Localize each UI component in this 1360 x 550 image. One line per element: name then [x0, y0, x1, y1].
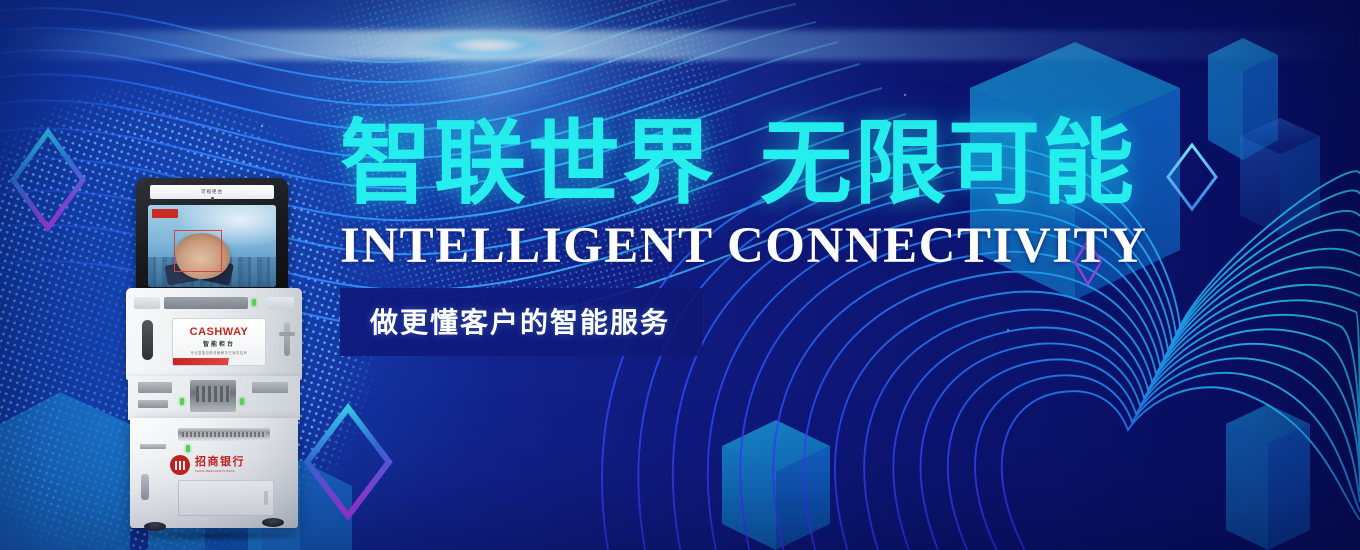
kiosk-cabinet-handle — [141, 474, 149, 500]
bank-logo-icon — [170, 455, 190, 475]
subheadline-english: INTELLIGENT CONNECTIVITY — [340, 220, 1240, 274]
kiosk-brand-latin: CASHWAY — [173, 326, 265, 338]
kiosk-brand-plate: CASHWAY 智能柜台 专业智能自助设备解决方案供应商 — [172, 318, 266, 366]
kiosk-cash-dispenser — [178, 428, 270, 441]
kiosk-brand-accent-bar — [173, 358, 265, 365]
screen-focus-box — [174, 230, 222, 272]
kiosk-led-1 — [252, 299, 256, 306]
flare-core — [412, 25, 562, 65]
iso-block-left-bottom — [0, 392, 130, 550]
iso-block-mid-right — [1240, 118, 1320, 235]
headline-part-2: 无限可能 — [760, 113, 1136, 215]
tagline-text: 做更懂客户的智能服务 — [370, 301, 672, 341]
headline-part-1: 智联世界 — [340, 113, 716, 215]
kiosk-foot-right — [262, 518, 284, 527]
kiosk-camera-icon — [211, 197, 214, 200]
kiosk-led-4 — [186, 445, 190, 452]
diamond-outline-bottom-center — [307, 408, 389, 516]
main-headline: 智联世界无限可能 — [340, 118, 1240, 210]
kiosk-upper-console: CASHWAY 智能柜台 专业智能自助设备解决方案供应商 — [126, 288, 302, 380]
iso-block-small-right — [1226, 404, 1310, 550]
kiosk-card-slot — [164, 297, 248, 309]
headline-block: 智联世界无限可能 INTELLIGENT CONNECTIVITY 做更懂客户的… — [340, 118, 1240, 356]
bank-name-cn: 招商银行 — [195, 457, 245, 468]
kiosk-screen — [148, 205, 276, 287]
kiosk-display-bezel: 可视柜台 — [136, 178, 288, 296]
kiosk-led-2 — [180, 398, 184, 405]
kiosk-access-panel — [178, 480, 274, 516]
kiosk-cabinet: 招商银行 CHINA MERCHANTS BANK — [130, 418, 298, 528]
kiosk-tray-left — [138, 382, 172, 393]
iso-block-lower-right — [1240, 130, 1318, 166]
kiosk-pad-left — [134, 297, 160, 309]
diamond-outline-top-left — [13, 132, 83, 228]
kiosk-receipt-slot — [140, 444, 166, 449]
kiosk-led-3 — [240, 398, 244, 405]
kiosk-ground-shadow — [124, 530, 304, 542]
kiosk-brand-cn: 智能柜台 — [173, 339, 265, 348]
kiosk-tray-left-2 — [138, 400, 168, 408]
kiosk-bank-logo: 招商银行 CHINA MERCHANTS BANK — [170, 454, 274, 476]
kiosk-device: 可视柜台 CASHWAY 智能柜台 — [118, 178, 318, 550]
iso-block-center-bottom — [722, 420, 830, 550]
kiosk-pad-right — [268, 297, 294, 309]
kiosk-scanner-handle — [142, 320, 153, 360]
bank-name-en: CHINA MERCHANTS BANK — [195, 470, 245, 473]
flare-streak — [0, 30, 1360, 60]
kiosk-mid-module — [128, 376, 300, 420]
screen-logo-tag — [152, 209, 178, 218]
kiosk-tray-right — [252, 382, 288, 393]
tagline-band: 做更懂客户的智能服务 — [340, 288, 702, 356]
kiosk-stylus-holder — [279, 332, 295, 336]
kiosk-cash-counter — [190, 380, 236, 412]
kiosk-brand-sub: 专业智能自助设备解决方案供应商 — [173, 350, 265, 355]
banner-root: 可视柜台 CASHWAY 智能柜台 — [0, 0, 1360, 550]
kiosk-stylus — [284, 322, 290, 356]
